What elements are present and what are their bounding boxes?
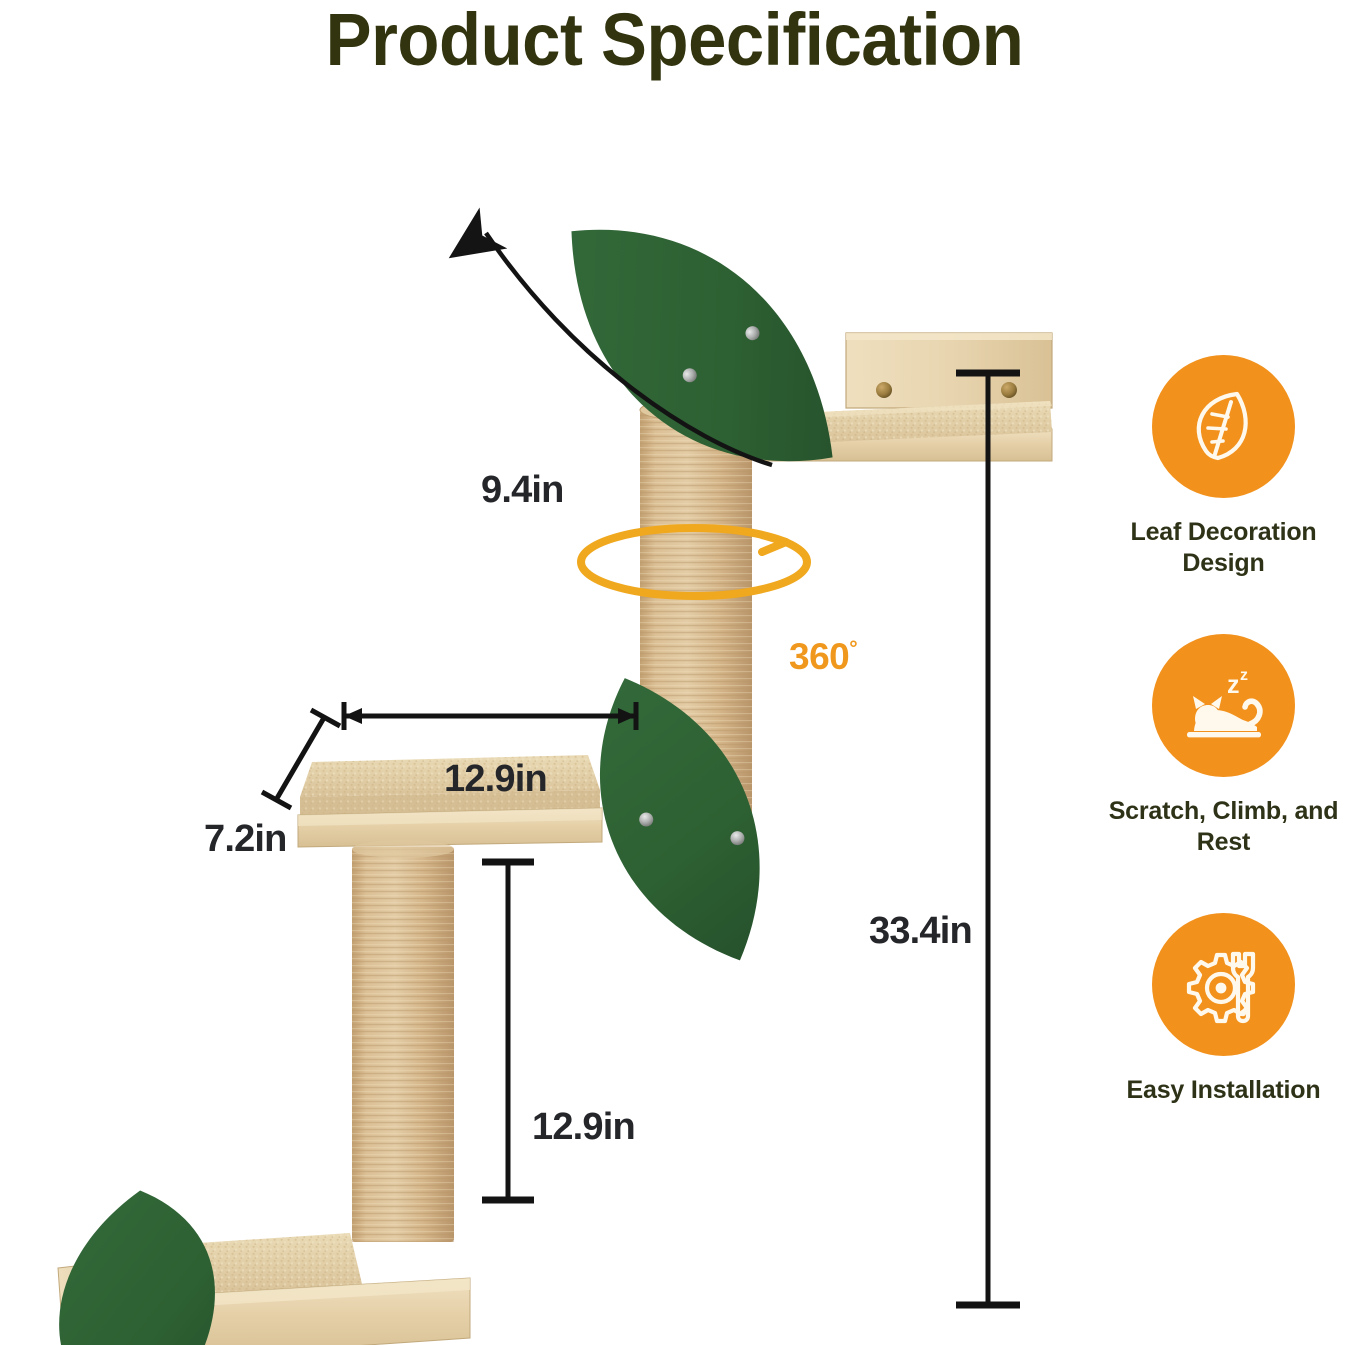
rotation-360-label: 360°	[789, 636, 857, 678]
dimension-label-platform-depth: 7.2in	[204, 818, 287, 861]
feature-caption: Leaf Decoration Design	[1104, 517, 1344, 578]
leaf-icon	[1181, 384, 1267, 470]
dimension-platform-width-line	[344, 702, 636, 730]
feature-item-leaf-decoration: Leaf Decoration Design	[1098, 355, 1349, 578]
feature-caption: Easy Installation	[1127, 1075, 1321, 1106]
feature-icon-badge	[1152, 913, 1295, 1056]
dimension-label-leaf-length: 9.4in	[481, 469, 564, 512]
feature-icon-badge	[1152, 355, 1295, 498]
lower-sisal-post	[352, 840, 454, 1242]
cat-tree-illustration	[0, 90, 1090, 1345]
dimension-label-post-height: 12.9in	[532, 1106, 635, 1149]
feature-item-scratch-climb-rest: z z Scratch, Climb, and Rest	[1098, 634, 1349, 857]
dimension-post-height-line	[482, 862, 534, 1200]
feature-icon-badge: z z	[1152, 634, 1295, 777]
product-diagram: 9.4in 12.9in 7.2in 33.4in 12.9in 360°	[0, 90, 1090, 1345]
leaf-panel-bottom	[23, 1181, 225, 1345]
svg-text:z: z	[1227, 671, 1240, 699]
degree-symbol: °	[849, 638, 857, 661]
rotation-360-value: 360	[789, 636, 849, 677]
svg-text:z: z	[1240, 667, 1248, 684]
dimension-label-total-height: 33.4in	[869, 910, 972, 953]
gear-wrench-icon	[1179, 940, 1269, 1030]
dimension-label-platform-width: 12.9in	[444, 758, 547, 801]
dimension-total-height-line	[956, 373, 1020, 1305]
feature-caption: Scratch, Climb, and Rest	[1104, 796, 1344, 857]
page-title: Product Specification	[47, 2, 1302, 77]
sleeping-cat-icon: z z	[1177, 663, 1271, 749]
feature-item-easy-installation: Easy Installation	[1098, 913, 1349, 1106]
feature-list: Leaf Decoration Design z z Scratch, Cl	[1098, 355, 1349, 1315]
